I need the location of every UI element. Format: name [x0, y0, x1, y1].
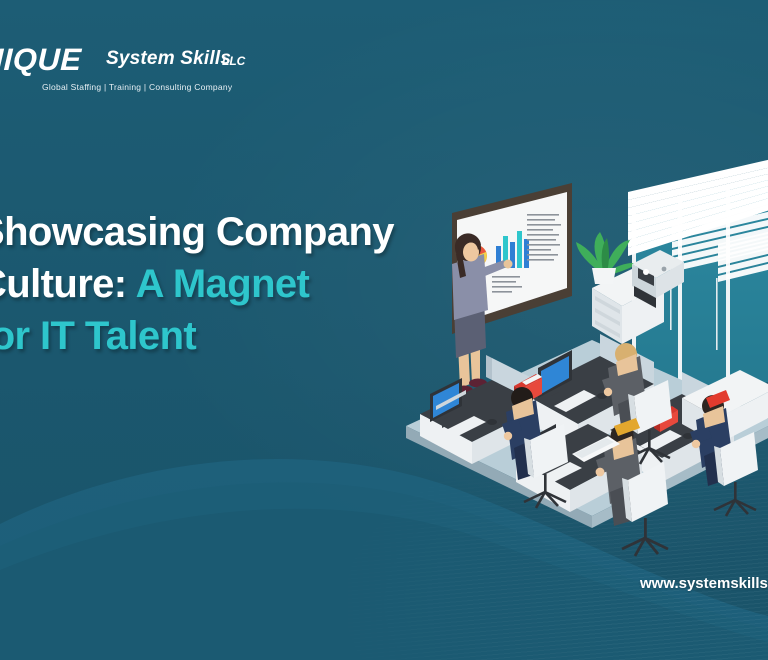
- company-logo[interactable]: UNIQUE System Skills LLC Global Staffing…: [0, 44, 288, 106]
- logo-tagline: Global Staffing | Training | Consulting …: [42, 82, 232, 92]
- website-url[interactable]: www.systemskills.com: [640, 575, 768, 592]
- headline-line-2-white: Culture:: [0, 262, 127, 306]
- headline-line-3-accent: for IT Talent: [0, 314, 196, 358]
- logo-brand-suffix: System Skills: [106, 48, 231, 70]
- headline-line-1-text: Showcasing Company: [0, 210, 394, 254]
- promo-banner: UNIQUE System Skills LLC Global Staffing…: [0, 0, 768, 660]
- office-illustration: [396, 168, 768, 540]
- logo-entity-type: LLC: [222, 54, 245, 68]
- headline-line-2-accent: A Magnet: [136, 262, 310, 306]
- logo-brand-word: UNIQUE: [0, 42, 82, 78]
- logo-text-row: UNIQUE System Skills LLC: [0, 44, 288, 78]
